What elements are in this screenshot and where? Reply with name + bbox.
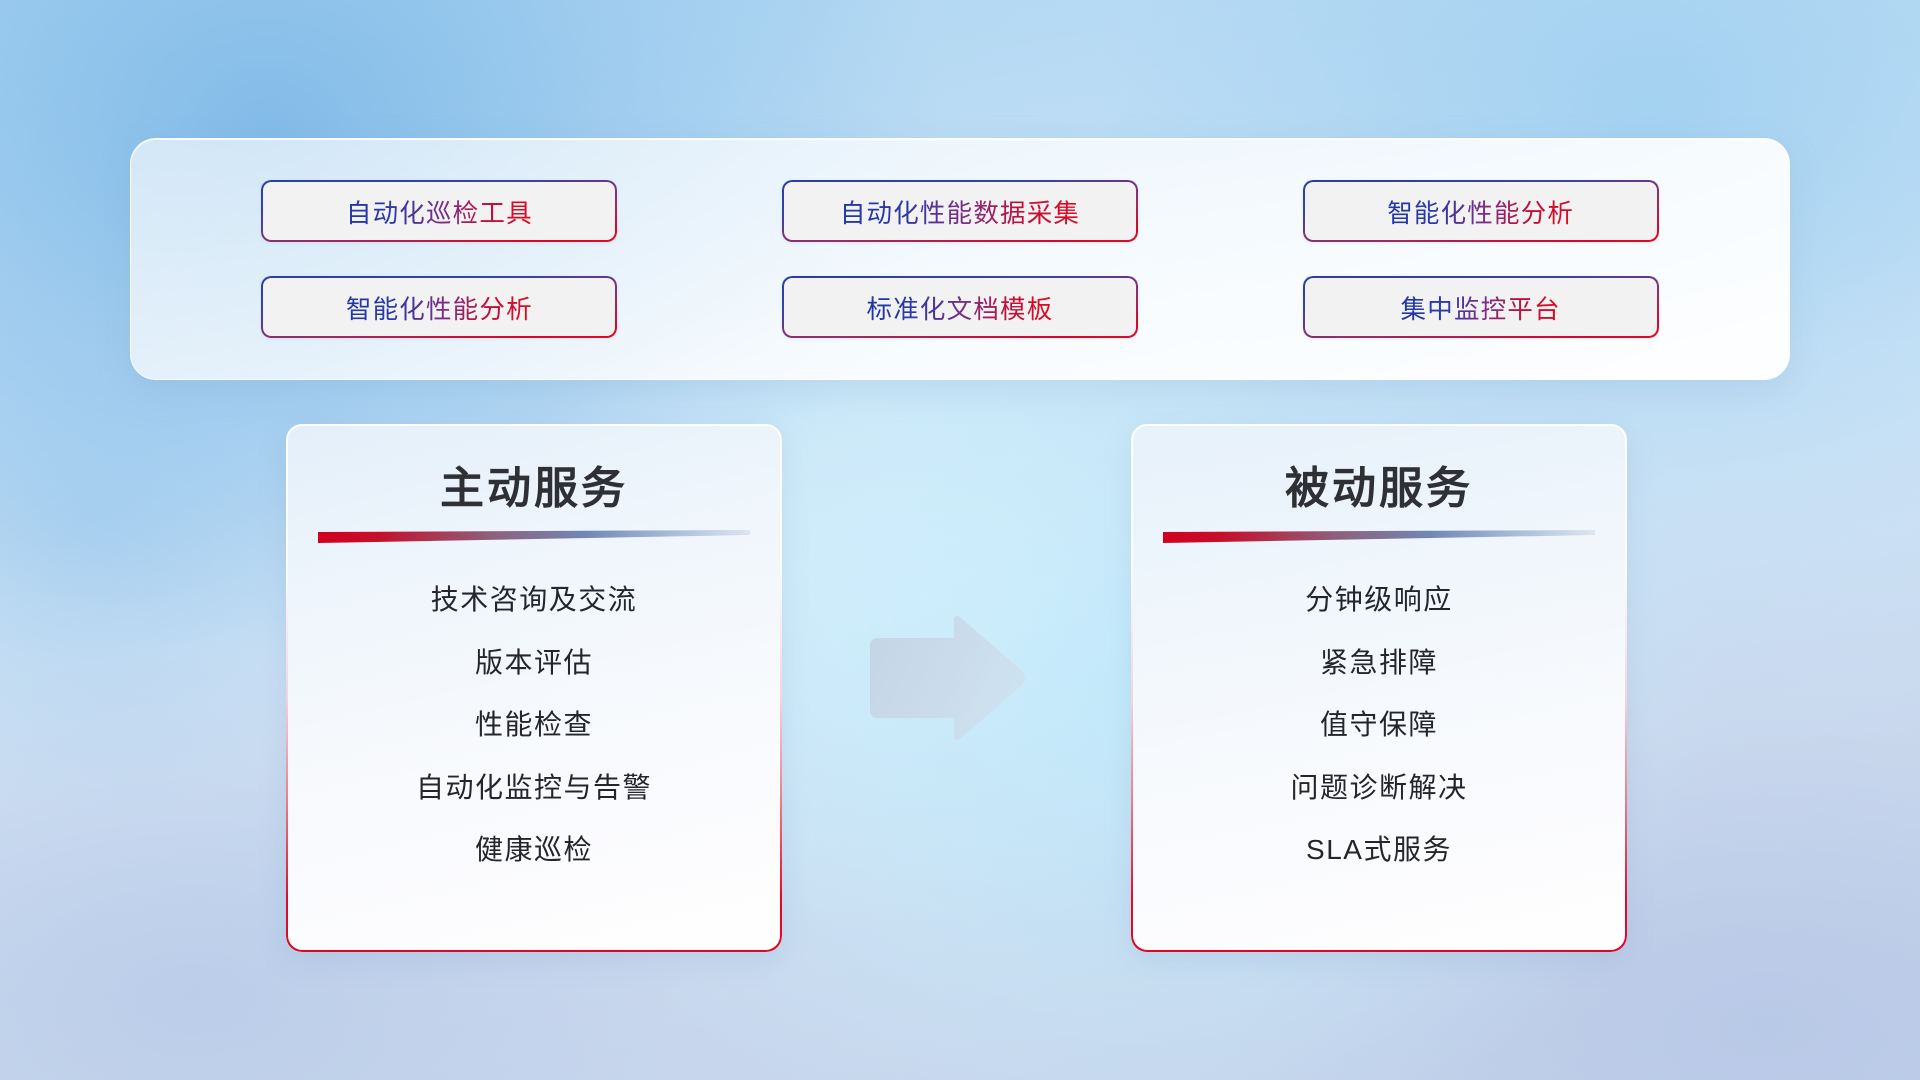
capability-pill-1[interactable]: 自动化巡检工具 — [261, 180, 617, 242]
capability-pill-label: 智能化性能分析 — [1387, 193, 1574, 230]
card-divider-icon — [318, 530, 750, 543]
list-item: 问题诊断解决 — [1290, 768, 1467, 809]
capability-pill-label: 自动化巡检工具 — [346, 193, 533, 230]
list-item: 自动化监控与告警 — [416, 768, 652, 809]
card-title: 被动服务 — [1131, 452, 1627, 516]
list-item: SLA式服务 — [1306, 830, 1452, 871]
capability-pill-6[interactable]: 集中监控平台 — [1303, 276, 1659, 338]
capability-pill-label: 智能化性能分析 — [346, 289, 533, 326]
capability-pill-2[interactable]: 自动化性能数据采集 — [782, 180, 1138, 242]
capability-pill-grid: 自动化巡检工具 自动化性能数据采集 智能化性能分析 智能化性能分析 标准化文档模… — [131, 139, 1789, 379]
list-item: 分钟级响应 — [1305, 580, 1453, 621]
card-divider-icon — [1163, 530, 1595, 543]
capability-panel: 自动化巡检工具 自动化性能数据采集 智能化性能分析 智能化性能分析 标准化文档模… — [130, 138, 1790, 380]
flow-arrow-right-icon — [862, 614, 1028, 742]
service-card-reactive: 被动服务 分钟级响应 紧急排障 值守保障 问题诊断解决 SLA式服务 — [1131, 424, 1627, 952]
list-item: 健康巡检 — [475, 830, 593, 871]
service-item-list: 技术咨询及交流 版本评估 性能检查 自动化监控与告警 健康巡检 — [286, 566, 782, 871]
list-item: 紧急排障 — [1320, 643, 1438, 684]
list-item: 版本评估 — [475, 643, 593, 684]
capability-pill-label: 标准化文档模板 — [867, 289, 1054, 326]
service-card-proactive: 主动服务 技术咨询及交流 版本评估 性能检查 自动化监控与告警 健康巡检 — [286, 424, 782, 952]
service-item-list: 分钟级响应 紧急排障 值守保障 问题诊断解决 SLA式服务 — [1131, 566, 1627, 871]
capability-pill-4[interactable]: 智能化性能分析 — [261, 276, 617, 338]
list-item: 技术咨询及交流 — [431, 580, 638, 621]
capability-pill-3[interactable]: 智能化性能分析 — [1303, 180, 1659, 242]
capability-pill-label: 自动化性能数据采集 — [840, 193, 1080, 230]
list-item: 性能检查 — [475, 705, 593, 746]
list-item: 值守保障 — [1320, 705, 1438, 746]
capability-pill-5[interactable]: 标准化文档模板 — [782, 276, 1138, 338]
card-title: 主动服务 — [286, 452, 782, 516]
capability-pill-label: 集中监控平台 — [1401, 289, 1561, 326]
